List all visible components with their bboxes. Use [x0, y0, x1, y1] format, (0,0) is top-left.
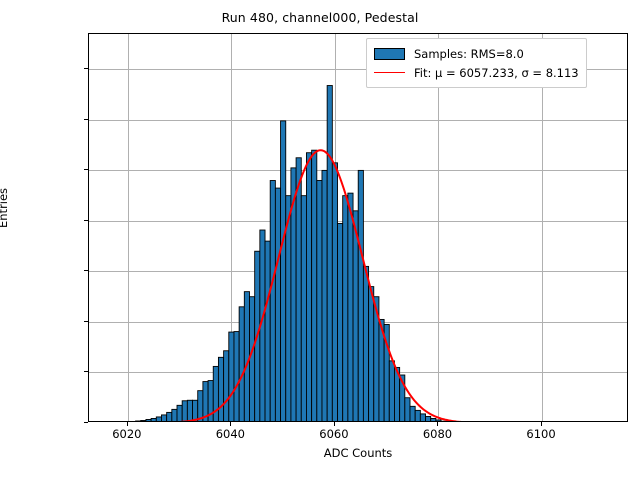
y-tick-mark	[84, 371, 88, 372]
legend-item-samples: Samples: RMS=8.0	[374, 44, 579, 63]
x-tick-label: 6080	[423, 427, 452, 441]
x-tick-mark	[127, 422, 128, 426]
y-tick-mark	[84, 321, 88, 322]
y-tick-mark	[84, 68, 88, 69]
x-tick-mark	[541, 422, 542, 426]
legend-patch-icon	[374, 48, 405, 60]
figure-canvas: Run 480, channel000, Pedestal 0100002000…	[0, 0, 640, 480]
legend-label-fit: Fit: μ = 6057.233, σ = 8.113	[414, 66, 579, 80]
x-axis-label: ADC Counts	[88, 446, 628, 460]
legend-line-icon	[374, 67, 405, 79]
x-tick-mark	[334, 422, 335, 426]
x-tick-mark	[230, 422, 231, 426]
chart-legend: Samples: RMS=8.0 Fit: μ = 6057.233, σ = …	[366, 38, 587, 88]
x-tick-label: 6060	[319, 427, 348, 441]
legend-label-samples: Samples: RMS=8.0	[414, 47, 524, 61]
y-tick-mark	[84, 169, 88, 170]
x-tick-mark	[437, 422, 438, 426]
y-tick-mark	[84, 422, 88, 423]
x-tick-label: 6020	[112, 427, 141, 441]
y-tick-mark	[84, 270, 88, 271]
legend-item-fit: Fit: μ = 6057.233, σ = 8.113	[374, 63, 579, 82]
x-tick-label: 6100	[526, 427, 555, 441]
y-tick-mark	[84, 220, 88, 221]
x-tick-label: 6040	[216, 427, 245, 441]
y-axis-label: Entries	[0, 188, 10, 228]
y-tick-mark	[84, 119, 88, 120]
